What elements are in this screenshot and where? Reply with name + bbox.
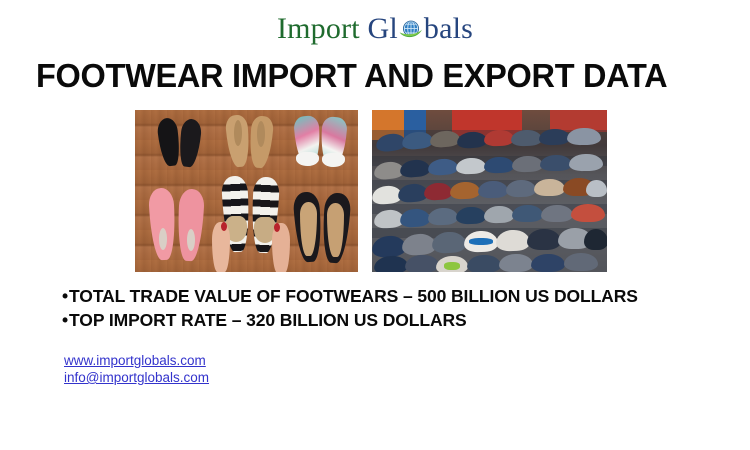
shoe-r2-h bbox=[569, 154, 603, 172]
sneaker-r5-e bbox=[496, 229, 531, 251]
email-link[interactable]: info@importglobals.com bbox=[64, 369, 209, 386]
logo-word-bals: bals bbox=[424, 12, 473, 45]
shoe-r4-f bbox=[512, 205, 543, 223]
key-figures-list: •TOTAL TRADE VALUE OF FOOTWEARS – 500 BI… bbox=[62, 284, 722, 332]
shoe-r1-h bbox=[567, 128, 601, 146]
sneaker-r5-f bbox=[527, 229, 561, 251]
bullet-text: TOP IMPORT RATE – 320 BILLION US DOLLARS bbox=[69, 310, 467, 330]
list-item: •TOTAL TRADE VALUE OF FOOTWEARS – 500 BI… bbox=[62, 284, 722, 308]
flipflop-thong-left bbox=[159, 228, 167, 250]
loafer-r3-i bbox=[586, 180, 607, 197]
shoe-r4-d bbox=[456, 206, 487, 224]
shoe-r4-c bbox=[428, 207, 459, 226]
shoe-r4-e bbox=[484, 205, 515, 223]
sneaker-r5-c bbox=[431, 231, 466, 254]
sneaker-r5-d-stripe bbox=[469, 238, 493, 245]
shoe-r4-g bbox=[541, 205, 573, 223]
sneaker-sole-left bbox=[296, 152, 319, 166]
loafer-r3-d bbox=[450, 181, 481, 200]
page-title: FOOTWEAR IMPORT AND EXPORT DATA bbox=[36, 57, 716, 95]
contact-links: www.importglobals.com info@importglobals… bbox=[64, 352, 209, 386]
tan-sandal-strap-right bbox=[257, 121, 265, 147]
sneaker-r6-g bbox=[564, 253, 598, 271]
nail-polish-left bbox=[221, 222, 227, 231]
shoe-r2-g bbox=[540, 155, 572, 172]
sneaker-r6-e bbox=[499, 254, 533, 272]
sneaker-sole-right bbox=[322, 153, 345, 167]
brand-logo: Import Gl bals bbox=[0, 10, 750, 48]
loafer-r3-f bbox=[506, 179, 537, 197]
list-item: •TOP IMPORT RATE – 320 BILLION US DOLLAR… bbox=[62, 308, 722, 332]
globe-icon bbox=[398, 15, 424, 41]
flipflop-thong-right bbox=[187, 229, 195, 251]
bullet-marker: • bbox=[62, 308, 68, 332]
loafer-r3-g bbox=[534, 179, 565, 197]
sneaker-r6-c-accent bbox=[444, 262, 460, 270]
footwear-assortment-on-wood-photo bbox=[135, 110, 358, 272]
website-link[interactable]: www.importglobals.com bbox=[64, 352, 206, 369]
bullet-text: TOTAL TRADE VALUE OF FOOTWEARS – 500 BIL… bbox=[69, 286, 638, 306]
shoe-r4-h bbox=[571, 204, 605, 222]
nail-polish-right bbox=[274, 223, 280, 232]
shoe-r1-g bbox=[539, 128, 571, 145]
logo-word-gl: Gl bbox=[368, 12, 398, 45]
logo-text-block: Import Gl bals bbox=[277, 10, 473, 48]
bullet-marker: • bbox=[62, 284, 68, 308]
shoe-r1-e bbox=[484, 129, 515, 147]
loafer-r3-e bbox=[478, 180, 509, 198]
tan-sandal-strap-left bbox=[234, 120, 242, 146]
sneaker-r6-d bbox=[467, 254, 502, 272]
sneaker-r5-h bbox=[584, 229, 607, 250]
shoe-r1-f bbox=[511, 129, 543, 146]
logo-word-import: Import bbox=[277, 12, 368, 45]
shoe-r2-d bbox=[456, 157, 487, 175]
shoe-market-stall-photo bbox=[372, 110, 607, 272]
shoe-r2-f bbox=[512, 155, 544, 172]
shoe-r2-e bbox=[484, 156, 515, 173]
sneaker-r6-f bbox=[531, 254, 565, 272]
